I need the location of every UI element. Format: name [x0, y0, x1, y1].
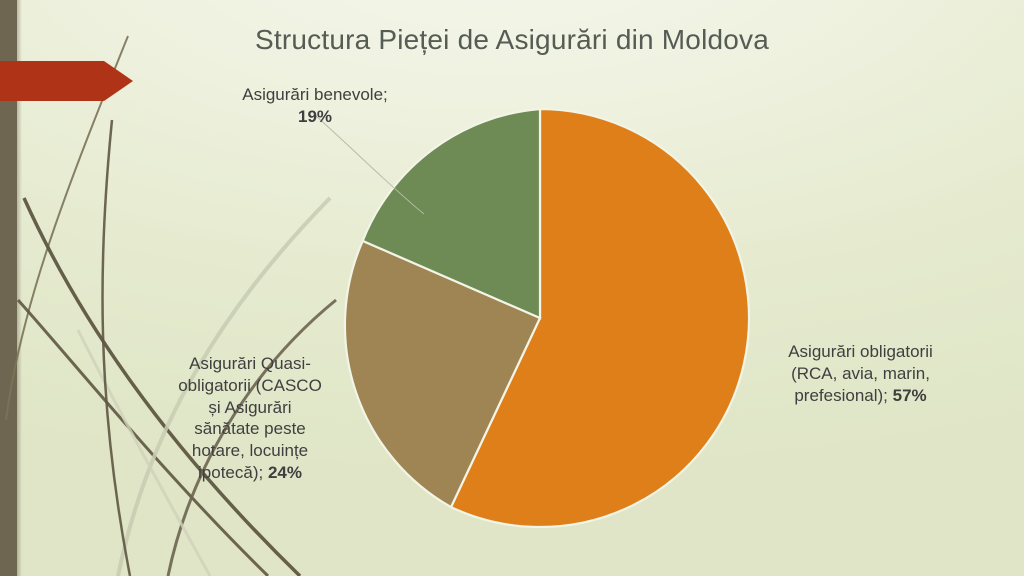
data-label-quasi-line3: și Asigurări: [208, 398, 291, 417]
data-label-benevole-value: 19%: [298, 107, 332, 126]
data-label-obligatorii-line3: prefesional);: [794, 386, 892, 405]
data-label-asigurari-quasi-obligatorii: Asigurări Quasi- obligatorii (CASCO și A…: [150, 353, 350, 484]
pie-chart-svg: [330, 108, 750, 528]
data-label-benevole-text: Asigurări benevole;: [242, 85, 388, 104]
data-label-quasi-value: 24%: [268, 463, 302, 482]
data-label-quasi-line2: obligatorii (CASCO: [178, 376, 322, 395]
data-label-obligatorii-line1: Asigurări obligatorii: [788, 342, 933, 361]
data-label-obligatorii-value: 57%: [893, 386, 927, 405]
pie-chart: Asigurări benevole; 19% Asigurări obliga…: [0, 0, 1024, 576]
data-label-quasi-line1: Asigurări Quasi-: [189, 354, 311, 373]
data-label-obligatorii-line2: (RCA, avia, marin,: [791, 364, 930, 383]
data-label-quasi-line5: hotare, locuințe: [192, 441, 308, 460]
data-label-asigurari-obligatorii: Asigurări obligatorii (RCA, avia, marin,…: [758, 341, 963, 406]
presentation-slide: Structura Pieței de Asigurări din Moldov…: [0, 0, 1024, 576]
data-label-quasi-line4: sănătate peste: [194, 419, 306, 438]
data-label-asigurari-benevole: Asigurări benevole; 19%: [205, 84, 425, 128]
data-label-quasi-line6: ipotecă);: [198, 463, 268, 482]
